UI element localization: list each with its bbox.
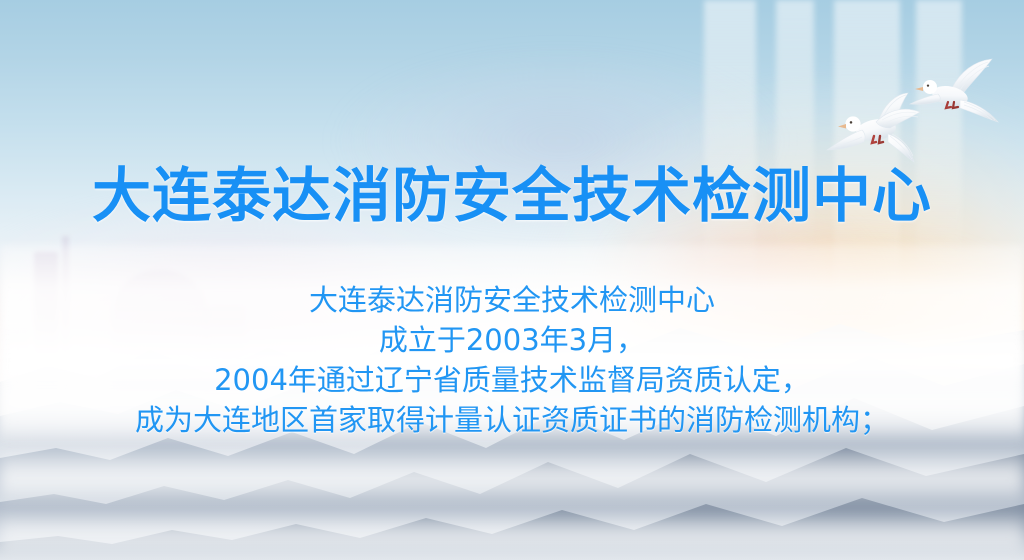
hero-banner: 大连泰达消防安全技术检测中心 大连泰达消防安全技术检测中心 成立于2003年3月… [0,0,1024,560]
intro-line-3: 2004年通过辽宁省质量技术监督局资质认定， [0,360,1024,400]
intro-paragraph: 大连泰达消防安全技术检测中心 成立于2003年3月， 2004年通过辽宁省质量技… [0,280,1024,440]
intro-line-2: 成立于2003年3月， [0,320,1024,360]
intro-line-1: 大连泰达消防安全技术检测中心 [0,280,1024,320]
page-title: 大连泰达消防安全技术检测中心 [0,166,1024,225]
banner-content: 大连泰达消防安全技术检测中心 大连泰达消防安全技术检测中心 成立于2003年3月… [0,0,1024,560]
intro-line-4: 成为大连地区首家取得计量认证资质证书的消防检测机构； [0,400,1024,440]
